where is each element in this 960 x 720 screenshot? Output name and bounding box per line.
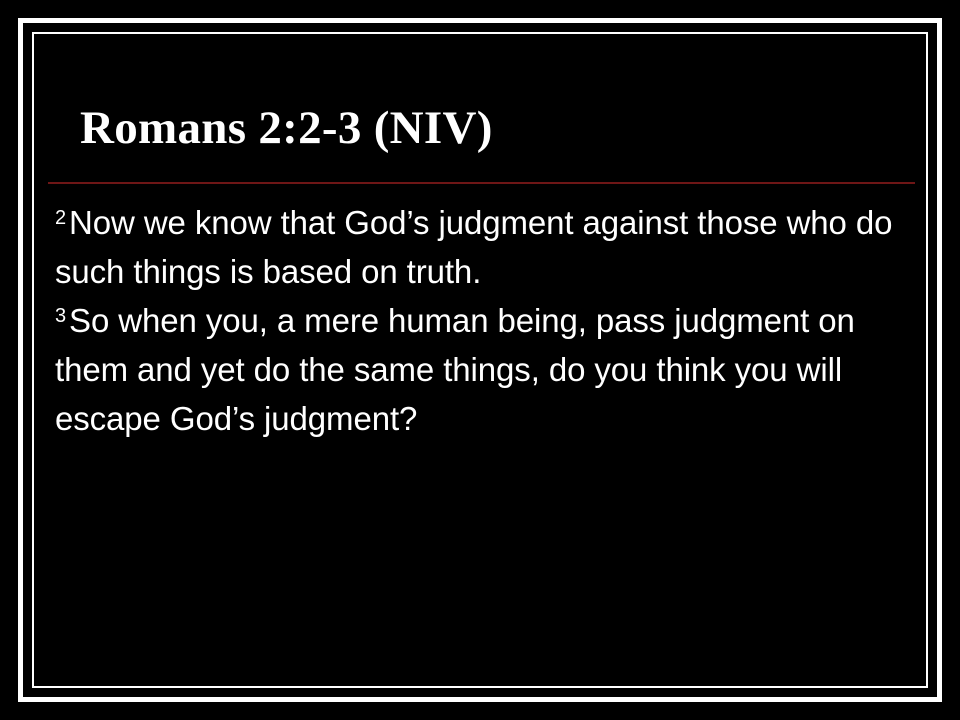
slide-title: Romans 2:2-3 (NIV) xyxy=(80,100,493,156)
verse-text-3: So when you, a mere human being, pass ju… xyxy=(55,302,855,437)
verse-text-2: Now we know that God’s judgment against … xyxy=(55,204,892,290)
scripture-body: 2Now we know that God’s judgment against… xyxy=(55,198,915,443)
title-divider-rule xyxy=(48,182,915,184)
presentation-slide: Romans 2:2-3 (NIV) 2Now we know that God… xyxy=(0,0,960,720)
verse-number-2: 2 xyxy=(55,207,69,229)
slide-content-area: Romans 2:2-3 (NIV) 2Now we know that God… xyxy=(34,34,926,686)
verse-number-3: 3 xyxy=(55,305,69,327)
